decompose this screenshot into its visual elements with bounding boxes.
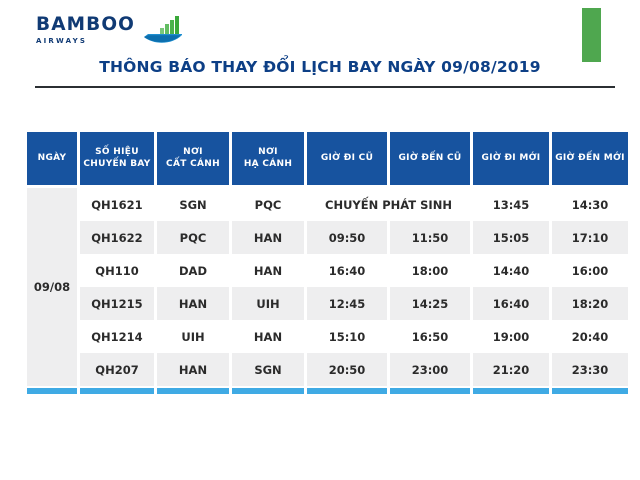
cell-origin: DAD [157, 254, 229, 287]
cell-old-departure: 16:40 [307, 254, 387, 287]
cell-flight-number: QH1214 [80, 320, 154, 353]
cell-flight-number: QH1621 [80, 188, 154, 221]
flight-change-table: NGÀY SỐ HIỆUCHUYẾN BAY NƠICẤT CÁNH NƠIHẠ… [27, 132, 617, 386]
cell-origin: SGN [157, 188, 229, 221]
cell-new-arrival: 20:40 [552, 320, 628, 353]
cell-destination: HAN [232, 320, 304, 353]
cell-new-departure: 13:45 [473, 188, 549, 221]
column-header-date: NGÀY [27, 132, 77, 185]
cell-old-arrival: 23:00 [390, 353, 470, 386]
cell-old-arrival: 11:50 [390, 221, 470, 254]
footer-segment [390, 388, 470, 394]
bamboo-wing-logo-icon [142, 15, 184, 50]
footer-segment [80, 388, 154, 394]
column-header-origin: NƠICẤT CÁNH [157, 132, 229, 185]
logo-brand-subtitle: AIRWAYS [36, 38, 135, 45]
logo-brand-name: BAMBOO [36, 16, 135, 35]
cell-destination: HAN [232, 254, 304, 287]
cell-old-departure: 12:45 [307, 287, 387, 320]
cell-destination: HAN [232, 221, 304, 254]
column-header-flight-number-label: SỐ HIỆUCHUYẾN BAY [83, 147, 150, 170]
cell-destination: SGN [232, 353, 304, 386]
green-accent-block [582, 8, 601, 62]
cell-origin: HAN [157, 287, 229, 320]
column-header-origin-label: NƠICẤT CÁNH [166, 147, 220, 170]
cell-flight-number: QH110 [80, 254, 154, 287]
cell-new-arrival: 18:20 [552, 287, 628, 320]
cell-flight-number: QH207 [80, 353, 154, 386]
footer-segment [27, 388, 77, 394]
footer-segment [157, 388, 229, 394]
cell-old-departure: 15:10 [307, 320, 387, 353]
cell-origin: UIH [157, 320, 229, 353]
column-header-destination: NƠIHẠ CÁNH [232, 132, 304, 185]
cell-old-times-note: CHUYẾN PHÁT SINH [307, 188, 470, 221]
cell-flight-number: QH1622 [80, 221, 154, 254]
cell-new-departure: 19:00 [473, 320, 549, 353]
page-title: THÔNG BÁO THAY ĐỔI LỊCH BAY NGÀY 09/08/2… [0, 58, 640, 76]
cell-old-departure: 09:50 [307, 221, 387, 254]
column-header-flight-number: SỐ HIỆUCHUYẾN BAY [80, 132, 154, 185]
cell-old-departure: 20:50 [307, 353, 387, 386]
logo-wordmark: BAMBOO AIRWAYS [36, 14, 135, 45]
cell-old-arrival: 18:00 [390, 254, 470, 287]
footer-segment [307, 388, 387, 394]
column-header-new-arrival: GIỜ ĐẾN MỚI [552, 132, 628, 185]
column-header-new-departure: GIỜ ĐI MỚI [473, 132, 549, 185]
date-cell: 09/08 [27, 188, 77, 386]
footer-segment [473, 388, 549, 394]
cell-origin: HAN [157, 353, 229, 386]
column-header-date-label: NGÀY [38, 153, 67, 164]
cell-new-arrival: 16:00 [552, 254, 628, 287]
column-header-destination-label: NƠIHẠ CÁNH [244, 147, 292, 170]
cell-new-arrival: 14:30 [552, 188, 628, 221]
cell-destination: PQC [232, 188, 304, 221]
cell-new-departure: 15:05 [473, 221, 549, 254]
cell-new-arrival: 23:30 [552, 353, 628, 386]
cell-origin: PQC [157, 221, 229, 254]
cell-old-arrival: 14:25 [390, 287, 470, 320]
cell-flight-number: QH1215 [80, 287, 154, 320]
table-header-row: NGÀY SỐ HIỆUCHUYẾN BAY NƠICẤT CÁNH NƠIHẠ… [27, 132, 617, 185]
footer-accent-bar [27, 388, 617, 394]
cell-destination: UIH [232, 287, 304, 320]
footer-segment [552, 388, 628, 394]
column-header-old-departure: GIỜ ĐI CŨ [307, 132, 387, 185]
cell-new-arrival: 17:10 [552, 221, 628, 254]
column-header-old-arrival: GIỜ ĐẾN CŨ [390, 132, 470, 185]
table-body: 09/08 QH1621SGNPQCCHUYẾN PHÁT SINH13:451… [27, 188, 617, 386]
flight-schedule-notice-page: BAMBOO AIRWAYS THÔNG BÁO THAY ĐỔI LỊCH B… [0, 0, 640, 480]
cell-new-departure: 21:20 [473, 353, 549, 386]
cell-new-departure: 16:40 [473, 287, 549, 320]
cell-new-departure: 14:40 [473, 254, 549, 287]
cell-old-arrival: 16:50 [390, 320, 470, 353]
footer-segment [232, 388, 304, 394]
bamboo-airways-logo: BAMBOO AIRWAYS [36, 14, 184, 50]
title-divider [35, 86, 615, 88]
